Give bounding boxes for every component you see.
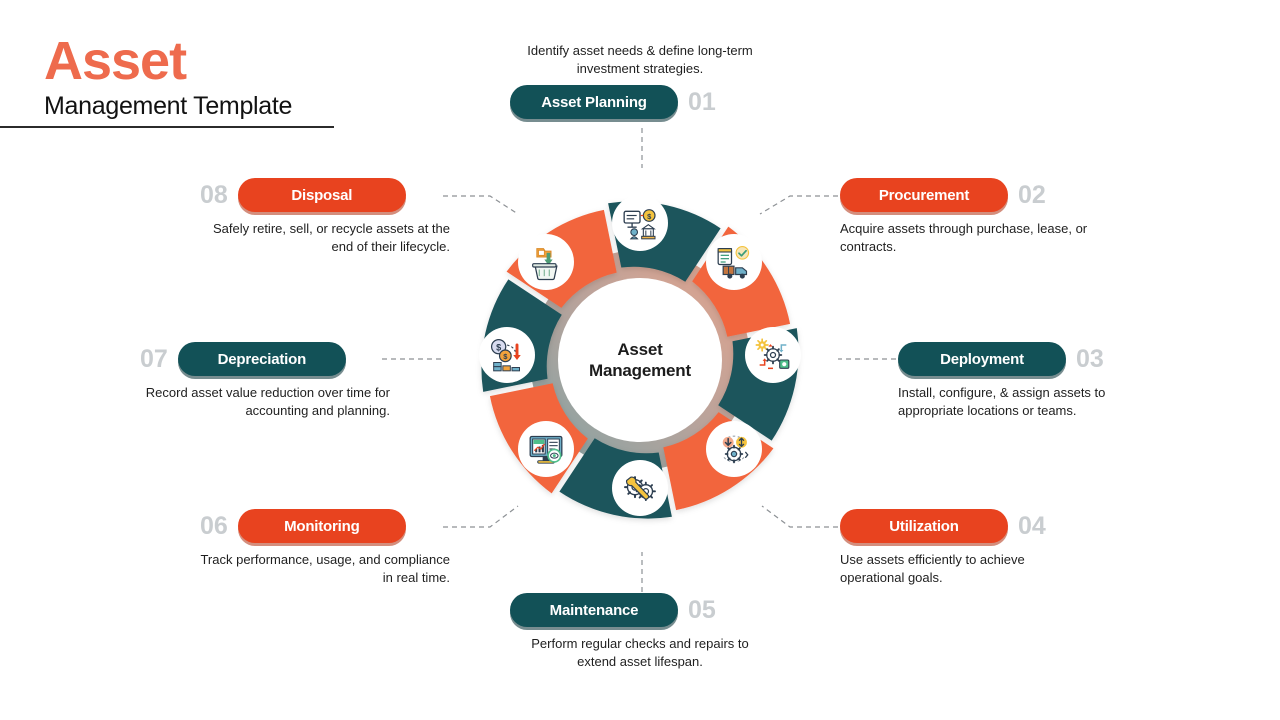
monitor-chart-icon-badge[interactable] bbox=[518, 421, 574, 477]
step-disposal[interactable]: 08 Disposal Safely retire, sell, or recy… bbox=[200, 178, 450, 255]
step-pill-maintenance[interactable]: Maintenance bbox=[510, 593, 678, 627]
step-procurement[interactable]: Procurement 02 Acquire assets through pu… bbox=[840, 178, 1090, 255]
wrench-gear-icon-badge[interactable] bbox=[612, 460, 668, 516]
step-pill-deployment[interactable]: Deployment bbox=[898, 342, 1066, 376]
svg-text:$: $ bbox=[496, 342, 501, 352]
step-number: 03 bbox=[1076, 345, 1104, 374]
wrench-gear-icon bbox=[620, 468, 660, 508]
page-title: Asset bbox=[44, 34, 344, 88]
delivery-truck-icon-badge[interactable] bbox=[706, 234, 762, 290]
step-number: 02 bbox=[1018, 181, 1046, 210]
step-number: 07 bbox=[140, 345, 168, 374]
step-number: 06 bbox=[200, 512, 228, 541]
center-label-line1: Asset bbox=[565, 339, 715, 360]
step-number: 04 bbox=[1018, 512, 1046, 541]
step-monitoring[interactable]: 06 Monitoring Track performance, usage, … bbox=[200, 509, 450, 586]
trash-bin-icon-badge[interactable] bbox=[518, 234, 574, 290]
step-utilization[interactable]: Utilization 04 Use assets efficiently to… bbox=[840, 509, 1090, 586]
step-number: 01 bbox=[688, 88, 716, 117]
step-description: Identify asset needs & define long-term … bbox=[510, 42, 770, 77]
step-deployment[interactable]: Deployment 03 Install, configure, & assi… bbox=[898, 342, 1146, 419]
trash-bin-icon bbox=[526, 242, 566, 282]
step-number: 08 bbox=[200, 181, 228, 210]
coins-decline-icon: $ $ bbox=[487, 335, 527, 375]
step-description: Install, configure, & assign assets to a… bbox=[898, 384, 1146, 419]
step-pill-disposal[interactable]: Disposal bbox=[238, 178, 406, 212]
page-subtitle: Management Template bbox=[44, 94, 344, 119]
title-block: Asset Management Template bbox=[44, 34, 344, 119]
step-description: Use assets efficiently to achieve operat… bbox=[840, 551, 1090, 586]
title-divider bbox=[0, 126, 334, 128]
step-description: Safely retire, sell, or recycle assets a… bbox=[200, 220, 450, 255]
step-description: Record asset value reduction over time f… bbox=[140, 384, 390, 419]
coins-decline-icon-badge[interactable]: $ $ bbox=[479, 327, 535, 383]
step-description: Track performance, usage, and compliance… bbox=[200, 551, 450, 586]
step-maintenance[interactable]: Maintenance 05 Perform regular checks an… bbox=[510, 593, 770, 670]
planning-icon: $ bbox=[620, 203, 660, 243]
delivery-truck-icon bbox=[714, 242, 754, 282]
step-depreciation[interactable]: 07 Depreciation Record asset value reduc… bbox=[140, 342, 390, 419]
step-pill-utilization[interactable]: Utilization bbox=[840, 509, 1008, 543]
asset-management-wheel: Asset Management $ bbox=[440, 160, 840, 560]
planning-icon-badge[interactable]: $ bbox=[612, 195, 668, 251]
gear-transfer-icon-badge[interactable] bbox=[745, 327, 801, 383]
center-label-line2: Management bbox=[565, 360, 715, 381]
step-number: 05 bbox=[688, 596, 716, 625]
monitor-chart-icon bbox=[526, 429, 566, 469]
step-pill-depreciation[interactable]: Depreciation bbox=[178, 342, 346, 376]
center-label: Asset Management bbox=[565, 339, 715, 382]
step-description: Perform regular checks and repairs to ex… bbox=[510, 635, 770, 670]
step-asset-planning[interactable]: Identify asset needs & define long-term … bbox=[510, 42, 770, 119]
gear-arrows-icon bbox=[714, 429, 754, 469]
step-pill-monitoring[interactable]: Monitoring bbox=[238, 509, 406, 543]
gear-transfer-icon bbox=[753, 335, 793, 375]
step-pill-procurement[interactable]: Procurement bbox=[840, 178, 1008, 212]
gear-arrows-icon-badge[interactable] bbox=[706, 421, 762, 477]
step-pill-asset-planning[interactable]: Asset Planning bbox=[510, 85, 678, 119]
step-description: Acquire assets through purchase, lease, … bbox=[840, 220, 1090, 255]
